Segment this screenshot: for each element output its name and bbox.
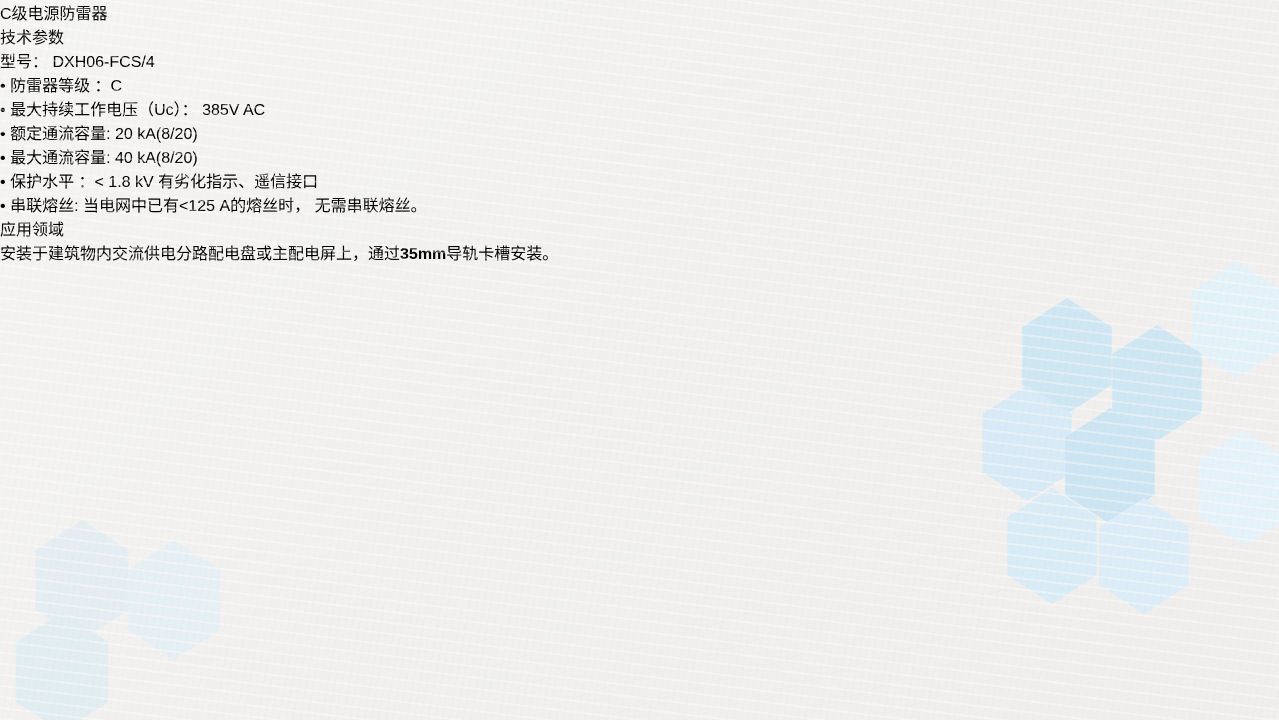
application-area-title: 应用领域 bbox=[0, 216, 1279, 240]
spec-continuation: 有劣化指示、遥信接口 bbox=[158, 174, 318, 191]
hexagon-icon bbox=[1015, 298, 1119, 414]
spec-text: 防雷器等级 ：C bbox=[10, 78, 122, 95]
list-item: • 防雷器等级 ：C bbox=[0, 72, 1279, 96]
spec-text: 串联熔丝: 当电网中已有<125 A的熔丝时， bbox=[10, 198, 310, 215]
bullet-icon: • bbox=[0, 102, 6, 119]
spec-subscript: (8/20) bbox=[156, 150, 198, 167]
spec-text: 最大持续工作电压（Uc）： 385V AC bbox=[10, 102, 265, 119]
spec-subscript: (8/20) bbox=[156, 126, 198, 143]
bullet-icon: • bbox=[0, 78, 6, 95]
spec-text: 保护水平 ：< 1.8 kV bbox=[10, 174, 154, 191]
list-item: • 保护水平 ：< 1.8 kV 有劣化指示、遥信接口 bbox=[0, 168, 1279, 192]
list-item: • 最大持续工作电压（Uc）： 385V AC bbox=[0, 96, 1279, 120]
model-label: 型号： bbox=[0, 54, 48, 71]
technical-parameters-title: 技术参数 bbox=[0, 24, 1279, 48]
spec-continuation: 无需串联熔丝。 bbox=[315, 198, 427, 215]
hexagon-icon bbox=[120, 540, 228, 660]
application-description-post: 导轨卡槽安装。 bbox=[446, 246, 558, 263]
hexagon-icon bbox=[1092, 498, 1196, 614]
slide-canvas: C级电源防雷器 bbox=[0, 0, 1279, 720]
bullet-icon: • bbox=[0, 174, 6, 191]
bullet-icon: • bbox=[0, 198, 6, 215]
hexagon-icon bbox=[1192, 430, 1279, 546]
model-line: 型号： DXH06-FCS/4 bbox=[0, 48, 1279, 72]
spec-list: • 防雷器等级 ：C • 最大持续工作电压（Uc）： 385V AC • 额定通… bbox=[0, 72, 1279, 216]
application-description-pre: 安装于建筑物内交流供电分路配电盘或主配电屏上，通过 bbox=[0, 246, 400, 263]
application-description: 安装于建筑物内交流供电分路配电盘或主配电屏上，通过35mm导轨卡槽安装。 bbox=[0, 240, 1279, 264]
application-description-highlight: 35mm bbox=[400, 246, 446, 263]
page-title: C级电源防雷器 bbox=[0, 0, 1279, 24]
hexagon-icon bbox=[28, 520, 136, 640]
application-area-box: 安装于建筑物内交流供电分路配电盘或主配电屏上，通过35mm导轨卡槽安装。 bbox=[0, 240, 1279, 264]
list-item: • 串联熔丝: 当电网中已有<125 A的熔丝时， 无需串联熔丝。 bbox=[0, 192, 1279, 216]
technical-parameters-banner: 技术参数 bbox=[0, 24, 1279, 48]
bullet-icon: • bbox=[0, 126, 6, 143]
list-item: • 最大通流容量: 40 kA(8/20) bbox=[0, 144, 1279, 168]
application-area-banner: 应用领域 bbox=[0, 216, 1279, 240]
page-title-text: C级电源防雷器 bbox=[0, 0, 1279, 24]
hexagon-icon bbox=[1000, 488, 1104, 604]
spec-text: 最大通流容量: 40 kA bbox=[10, 150, 156, 167]
spec-text: 额定通流容量: 20 kA bbox=[10, 126, 156, 143]
hexagon-icon bbox=[1185, 262, 1279, 378]
hexagon-icon bbox=[1105, 325, 1209, 441]
hexagon-icon bbox=[8, 612, 116, 720]
bullet-icon: • bbox=[0, 150, 6, 167]
hexagon-icon bbox=[975, 385, 1079, 501]
model-value: DXH06-FCS/4 bbox=[52, 54, 154, 71]
hexagon-icon bbox=[1058, 408, 1162, 524]
list-item: • 额定通流容量: 20 kA(8/20) bbox=[0, 120, 1279, 144]
